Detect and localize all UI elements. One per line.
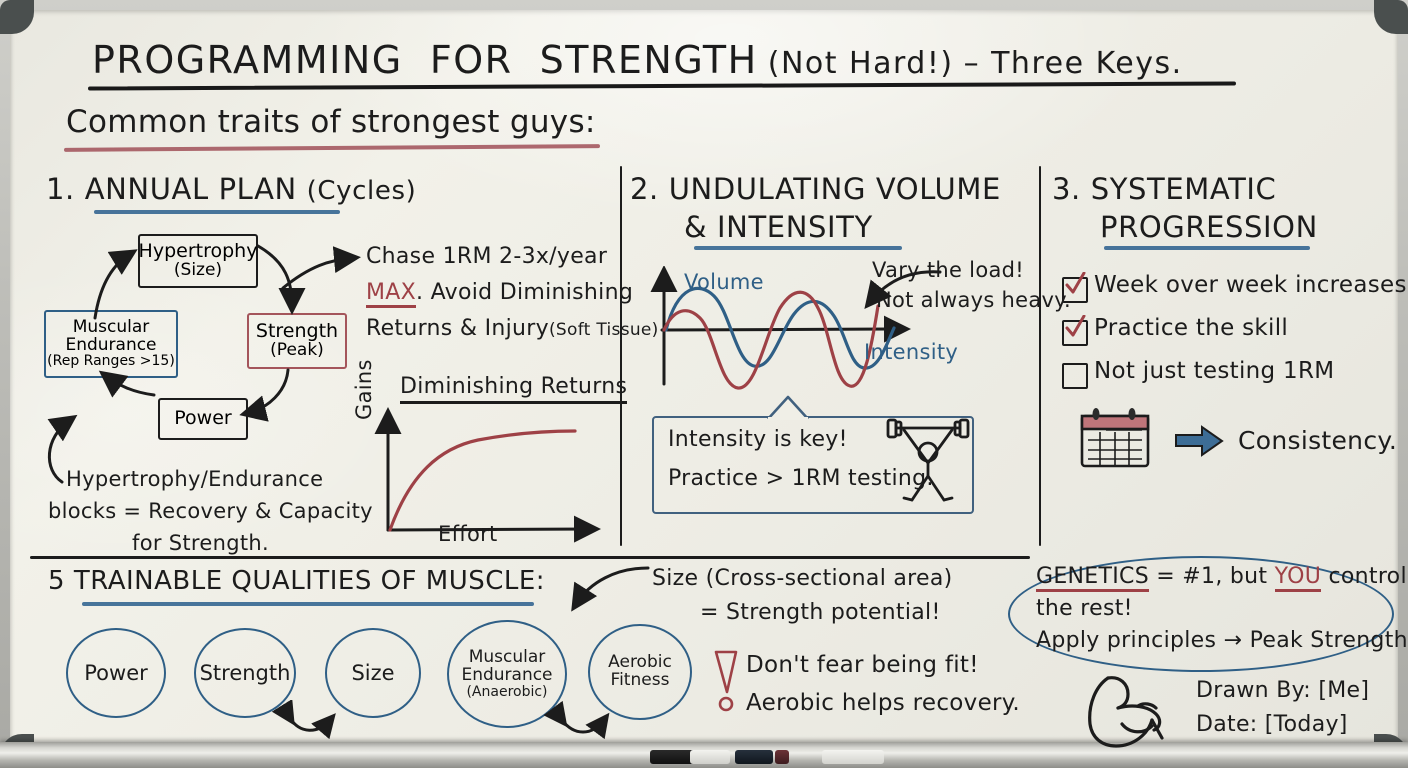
- section2-number: 2.: [630, 172, 659, 206]
- quality-size-label: Size: [351, 662, 394, 684]
- genetics-rest-b: control: [1321, 564, 1407, 589]
- weightlifter-icon: [882, 414, 974, 506]
- genetics-rest-a: = #1, but: [1149, 564, 1275, 589]
- warning-line1: Don't fear being fit!: [746, 652, 979, 678]
- max-emphasis: MAX: [366, 280, 416, 308]
- subtitle: Common traits of strongest guys:: [66, 104, 596, 140]
- section3-heading-line2: PROGRESSION: [1100, 210, 1318, 244]
- section3-number: 3.: [1052, 172, 1081, 206]
- section2-heading-line2: & INTENSITY: [684, 210, 873, 244]
- callout-pointer: [766, 394, 836, 420]
- wave-label-intensity: Intensity: [864, 340, 958, 364]
- check-mark-1-icon: [1063, 272, 1089, 298]
- check-mark-2-icon: [1063, 315, 1089, 341]
- chase-1rm-note-line3-main: Returns & Injury: [366, 316, 549, 341]
- section1-bottom-note-l2: blocks = Recovery & Capacity: [48, 499, 373, 523]
- size-note-line2: = Strength potential!: [700, 600, 941, 625]
- quality-link-arrows: [0, 700, 700, 750]
- genetics-you: YOU: [1275, 564, 1322, 592]
- bottom-heading-underline: [82, 602, 534, 606]
- quality-me-line2: Endurance: [461, 667, 552, 685]
- checklist-label-1: Week over week increases: [1094, 272, 1407, 298]
- chase-1rm-note-line2: MAX. Avoid Diminishing: [366, 280, 633, 305]
- ink-layer: PROGRAMMING FOR STRENGTH(Not Hard!)– Thr…: [0, 0, 1408, 768]
- title-main: PROGRAMMING FOR STRENGTH: [92, 38, 758, 82]
- soft-tissue-note: (Soft Tissue): [549, 320, 659, 340]
- bottom-heading: 5 TRAINABLE QUALITIES OF MUSCLE:: [48, 566, 545, 596]
- checklist-label-3: Not just testing 1RM: [1094, 358, 1334, 384]
- vary-load-note-l1: Vary the load!: [872, 258, 1024, 282]
- genetics-line1: GENETICS = #1, but YOU control: [1036, 564, 1407, 589]
- section1-bottom-note-l1: Hypertrophy/Endurance: [66, 467, 323, 491]
- size-note-line1: Size (Cross-sectional area): [652, 566, 953, 591]
- page-title: PROGRAMMING FOR STRENGTH(Not Hard!)– Thr…: [92, 38, 1183, 82]
- section2-title-l1: UNDULATING VOLUME: [669, 172, 1001, 206]
- right-arrow-icon: [1174, 424, 1230, 460]
- vary-load-note-l2: Not always heavy.: [876, 288, 1071, 312]
- divider-vertical-1: [620, 166, 622, 546]
- consistency-label: Consistency.: [1238, 426, 1397, 455]
- genetics-line2: the rest!: [1036, 596, 1133, 621]
- quality-me-line1: Muscular: [469, 649, 546, 667]
- chase-1rm-note-line1: Chase 1RM 2-3x/year: [366, 244, 607, 269]
- size-note-pointer: [530, 560, 670, 630]
- signature-drawn-by: Drawn By: [Me]: [1196, 678, 1369, 703]
- title-tail: – Three Keys.: [964, 46, 1183, 81]
- checkbox-3[interactable]: [1062, 363, 1088, 389]
- exclamation-icon: [712, 648, 742, 718]
- section1-bottom-note-l3: for Strength.: [132, 531, 269, 555]
- chase-1rm-note-line3: Returns & Injury(Soft Tissue): [366, 316, 659, 341]
- callout-line1: Intensity is key!: [668, 427, 848, 452]
- genetics-line3: Apply principles → Peak Strength.: [1036, 628, 1408, 653]
- chase-1rm-note-line2-rest: . Avoid Diminishing: [416, 280, 633, 305]
- quality-me-line3: (Anaerobic): [466, 685, 547, 700]
- checklist-label-2: Practice the skill: [1094, 315, 1288, 341]
- section2-underline: [694, 246, 902, 250]
- chart-ylabel-gains: Gains: [352, 359, 376, 420]
- quality-power-label: Power: [84, 662, 148, 684]
- title-underline: [88, 81, 1236, 90]
- section3-underline: [1104, 246, 1310, 250]
- chart-xlabel-effort: Effort: [438, 522, 498, 546]
- quality-aerobic-line2: Fitness: [611, 672, 670, 690]
- calendar-icon: [1078, 408, 1154, 470]
- section3-title-l1: SYSTEMATIC: [1091, 172, 1277, 206]
- subtitle-underline: [64, 144, 600, 152]
- section2-heading-line1: 2. UNDULATING VOLUME: [630, 172, 1001, 206]
- title-paren: (Not Hard!): [768, 46, 954, 81]
- bottom-heading-text: TRAINABLE QUALITIES OF MUSCLE:: [74, 566, 545, 596]
- bottom-heading-number: 5: [48, 566, 65, 596]
- genetics-word: GENETICS: [1036, 564, 1149, 592]
- section3-heading-line1: 3. SYSTEMATIC: [1052, 172, 1276, 206]
- signature-date: Date: [Today]: [1196, 712, 1348, 737]
- flexed-bicep-icon: [1078, 672, 1176, 752]
- quality-strength-label: Strength: [200, 662, 291, 684]
- warning-line2: Aerobic helps recovery.: [746, 690, 1020, 716]
- wave-label-volume: Volume: [684, 270, 764, 294]
